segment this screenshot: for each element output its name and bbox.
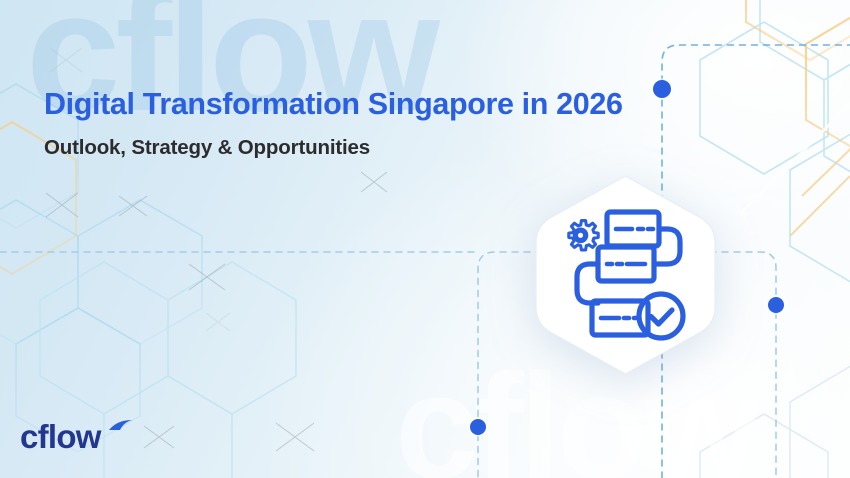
hexagon-outline-orange-topright bbox=[746, 0, 850, 158]
connector-path-lower bbox=[577, 264, 598, 303]
workflow-automation-icon bbox=[562, 205, 690, 345]
page-subtitle: Outlook, Strategy & Opportunities bbox=[44, 136, 370, 160]
brand-logo[interactable]: cflow bbox=[20, 417, 140, 457]
node-right bbox=[768, 297, 784, 313]
highlight-streak bbox=[740, 104, 850, 214]
page-title: Digital Transformation Singapore in 2026 bbox=[44, 87, 623, 122]
node-left bbox=[470, 419, 486, 435]
gear-icon bbox=[569, 221, 598, 250]
node-top bbox=[653, 80, 671, 98]
logo-swoosh-icon bbox=[108, 419, 134, 433]
brand-logo-text: cflow bbox=[20, 417, 101, 457]
slide-canvas: cflow cflow bbox=[0, 0, 850, 478]
brand-watermark-top: cflow bbox=[26, 0, 435, 150]
hexagon-outline-group-topright bbox=[700, 0, 850, 284]
accent-diagonal-line bbox=[790, 132, 850, 236]
